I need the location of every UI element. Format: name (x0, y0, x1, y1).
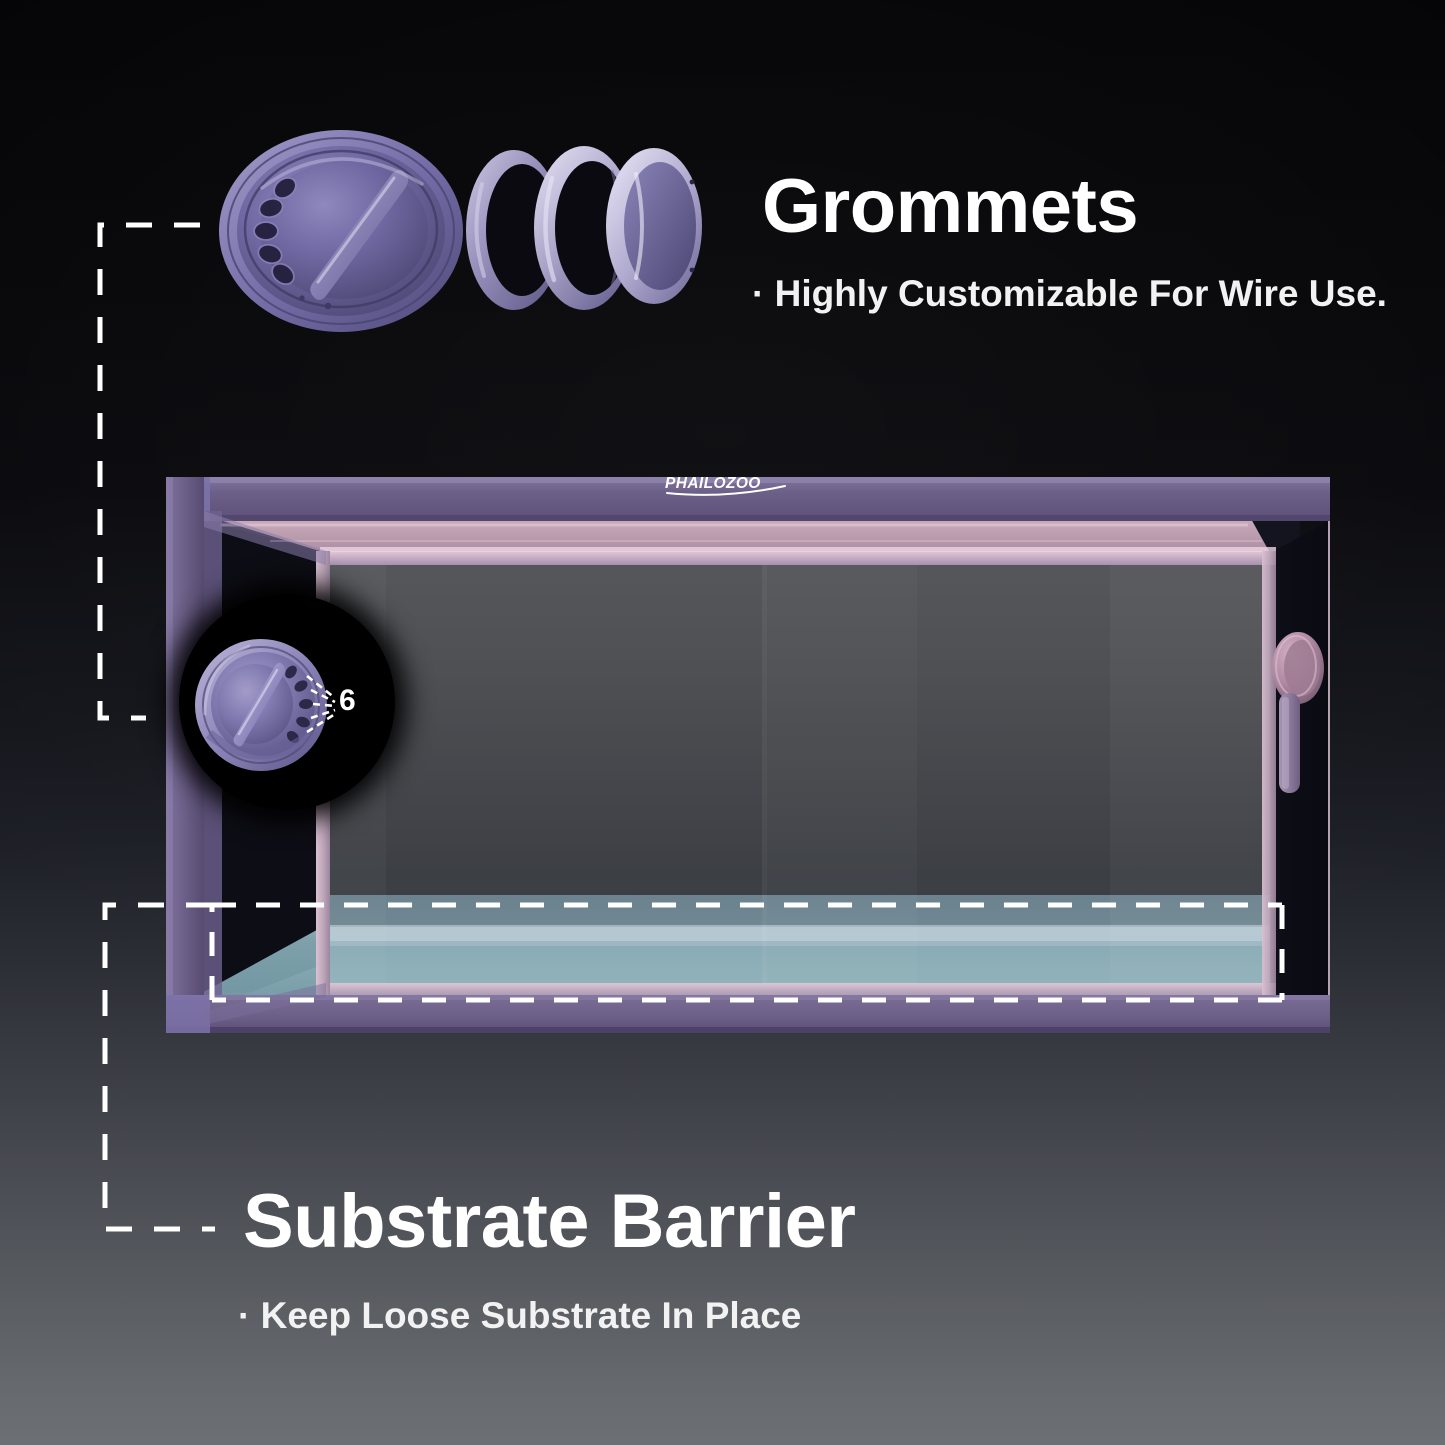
brand-logo: PHAILOZOO (663, 471, 793, 497)
substrate-barrier-heading: Substrate Barrier (243, 1180, 855, 1264)
grommets-bullet: · Highly Customizable For Wire Use. (752, 272, 1387, 316)
grommet-detail-callout: 6 (179, 594, 395, 810)
grommet-rings-illustration (452, 130, 712, 330)
grommets-heading: Grommets (762, 166, 1138, 248)
substrate-barrier-bullet: · Keep Loose Substrate In Place (238, 1294, 801, 1338)
brand-logo-text: PHAILOZOO (665, 475, 761, 492)
grommet-plug-illustration (216, 126, 466, 336)
grommet-count-label: 6 (339, 686, 356, 716)
product-feature-graphic: PHAILOZOO (0, 0, 1445, 1445)
